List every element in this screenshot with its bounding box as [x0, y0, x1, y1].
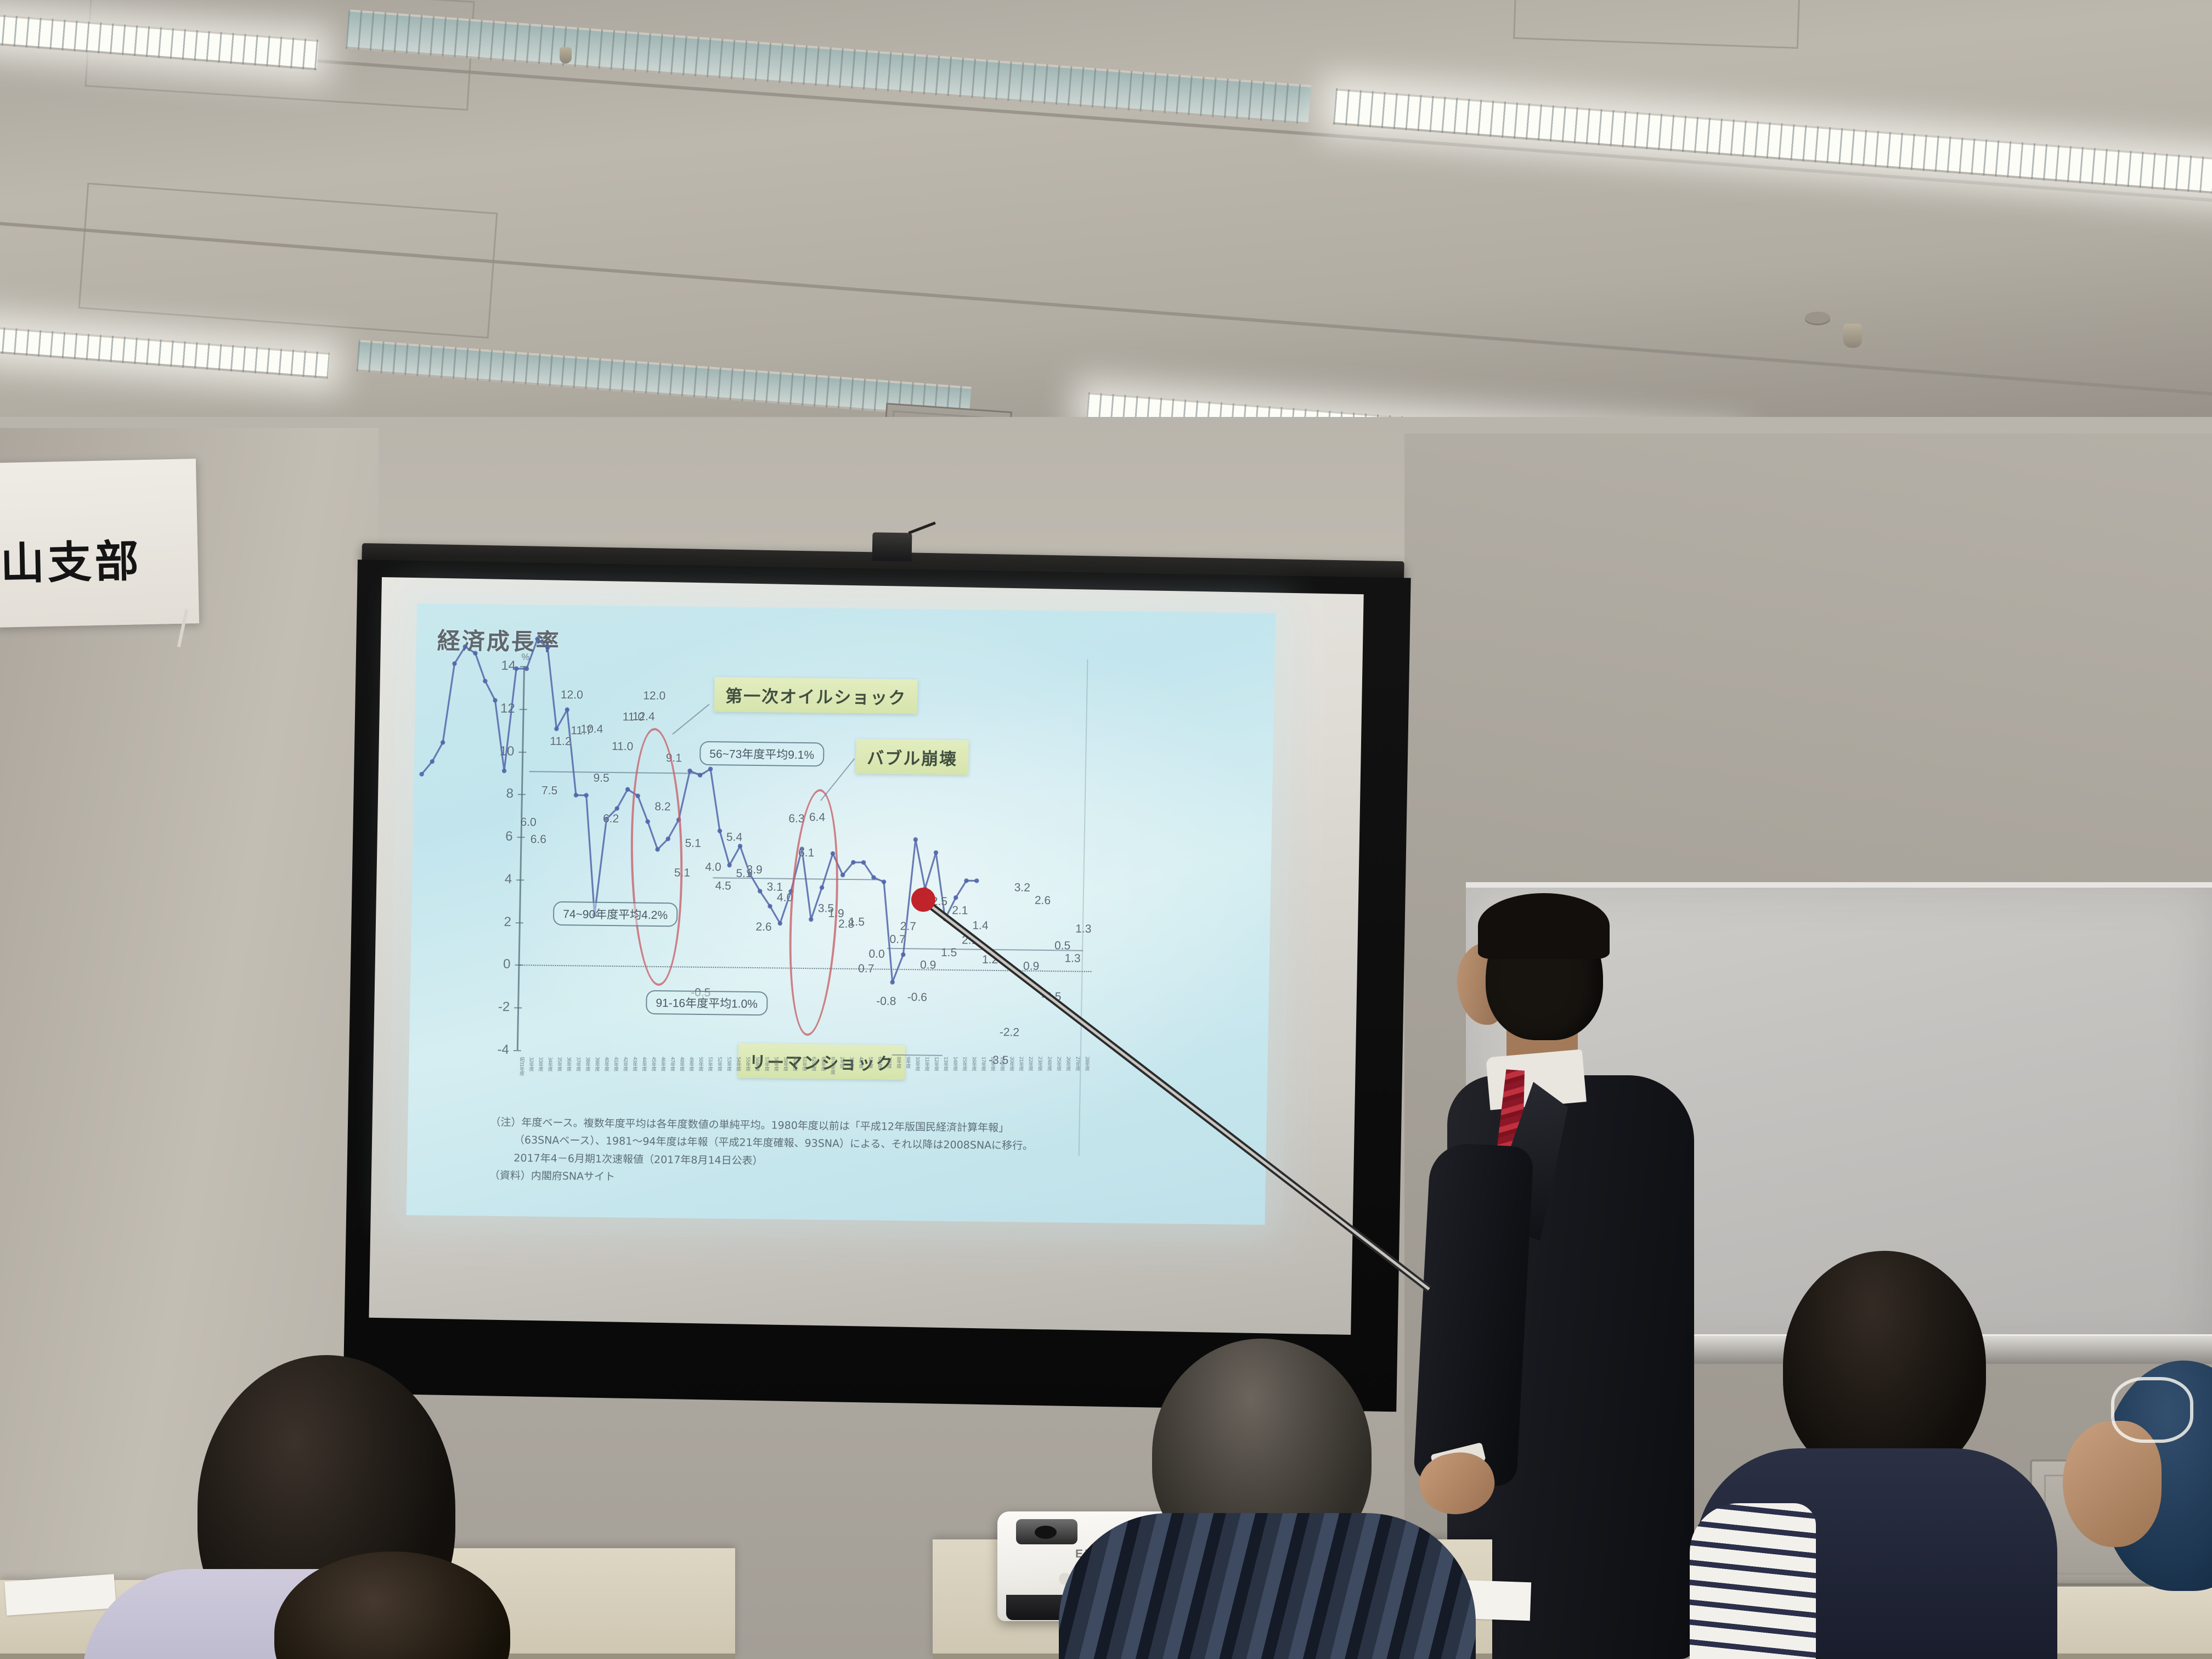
x-axis-tick-label: 7年度	[886, 1057, 891, 1068]
x-axis-tick-label: 昭31年度	[518, 1057, 524, 1075]
data-point-label: -2.2	[1000, 1026, 1020, 1039]
data-point-label: 2.6	[1035, 894, 1051, 907]
x-axis-tick-label: 2年度	[839, 1057, 844, 1068]
presenter-arm	[1413, 1142, 1534, 1487]
data-point-label: 1.3	[1075, 923, 1092, 936]
x-axis-tick-label: 49年度	[688, 1057, 693, 1070]
data-point-label: 12.4	[633, 710, 655, 724]
x-axis-tick-label: 55年度	[744, 1057, 749, 1070]
data-point-label: 2.1	[952, 904, 968, 917]
x-axis-tick-label: 43年度	[631, 1057, 636, 1070]
x-axis-tick-label: 27年度	[1074, 1057, 1079, 1070]
callout-oil-shock: 第一次オイルショック	[714, 677, 918, 714]
x-axis-tick-label: 6年度	[877, 1057, 882, 1068]
x-axis-tick-label: 57年度	[764, 1057, 769, 1070]
x-axis-tick-label: 13年度	[943, 1057, 947, 1070]
x-axis-tick-label: 10年度	[914, 1057, 919, 1070]
x-axis-tick-label: 32年度	[528, 1057, 533, 1070]
data-point-label: 4.5	[715, 880, 731, 893]
data-point-label: -0.5	[1041, 990, 1062, 1003]
x-axis-tick-label: 53年度	[726, 1057, 731, 1070]
x-axis-tick-label: 5年度	[867, 1057, 872, 1068]
x-axis-tick-label: 44年度	[641, 1057, 646, 1070]
x-axis-tick-label: 9年度	[905, 1057, 910, 1068]
data-point-label: 6.2	[603, 812, 619, 826]
x-axis-tick-label: 3年度	[848, 1057, 853, 1068]
pill-avg-74-90: 74~90年度平均4.2%	[553, 901, 678, 927]
presenter-hair-top	[1478, 893, 1610, 959]
data-point-label: 5.4	[726, 831, 743, 844]
data-point-label: 0.5	[1054, 939, 1071, 952]
data-point-label: 11.0	[612, 740, 634, 753]
data-point-label: 12.0	[643, 689, 665, 702]
x-axis-tick-label: 平元年度	[830, 1057, 835, 1074]
x-axis-tick-label: 35年度	[556, 1057, 561, 1070]
data-point-label: 1.4	[972, 919, 989, 933]
x-axis-tick-label: 51年度	[707, 1057, 712, 1070]
x-axis-tick-label: 62年度	[811, 1057, 816, 1070]
pill-avg-56-73: 56~73年度平均9.1%	[699, 741, 825, 767]
ceiling	[0, 0, 2212, 483]
data-point-label: 0.9	[1023, 960, 1040, 973]
slide-footnote: （注）年度ベース。複数年度平均は各年度数値の単純平均。1980年度以前は「平成1…	[489, 1115, 1214, 1194]
x-axis-tick-label: 34年度	[547, 1057, 552, 1070]
x-axis-tick-label: 42年度	[622, 1057, 627, 1070]
callout-bubble-burst: バブル崩壊	[856, 739, 969, 775]
data-point-label: 2.5	[932, 895, 948, 909]
x-axis-tick-label: 38年度	[584, 1057, 589, 1070]
x-axis-tick-label: 60年度	[792, 1057, 797, 1070]
data-point-label: 4.0	[705, 861, 721, 874]
data-point-label: 7.5	[541, 784, 558, 797]
x-axis-tick-label: 18年度	[990, 1057, 995, 1070]
data-point-label: 6.0	[520, 816, 537, 829]
data-point-label: 0.7	[858, 962, 874, 975]
wall-banner-text: 山支部	[0, 524, 193, 592]
x-axis-tick-label: 15年度	[961, 1057, 966, 1070]
x-axis-tick-label: 23年度	[1037, 1057, 1042, 1070]
x-axis-tick-label: 45年度	[651, 1057, 656, 1070]
data-point-label: 10.4	[580, 723, 603, 736]
data-point-label: 1.5	[849, 916, 865, 929]
y-axis-label: -2	[498, 1000, 510, 1015]
smoke-detector-icon	[1805, 312, 1830, 324]
x-axis-tick-label: 46年度	[660, 1057, 665, 1070]
data-point-label: 3.2	[1014, 881, 1031, 894]
data-point-label: 1.3	[1064, 952, 1081, 965]
x-axis-tick-label: 8年度	[895, 1057, 900, 1068]
x-axis-tick-label: 22年度	[1028, 1057, 1032, 1070]
x-axis-tick-label: 39年度	[594, 1057, 599, 1070]
x-axis-tick-label: 24年度	[1046, 1057, 1051, 1070]
x-axis-tick-label: 16年度	[971, 1057, 976, 1070]
sprinkler-icon	[560, 47, 572, 64]
projector-lens-icon	[1016, 1519, 1077, 1544]
x-axis-tick-label: 56年度	[754, 1057, 759, 1070]
audience-shoulder	[1059, 1513, 1476, 1659]
x-axis-tick-label: 37年度	[575, 1057, 580, 1070]
x-axis-tick-label: 58年度	[773, 1057, 778, 1070]
data-point-label: 6.6	[530, 833, 546, 846]
x-axis-tick-label: 17年度	[980, 1057, 985, 1070]
x-axis-tick-label: 11年度	[924, 1057, 929, 1070]
audience-striped-sleeve	[1690, 1503, 1816, 1659]
data-point-label: -0.8	[876, 995, 896, 1008]
x-axis-labels: 昭31年度32年度33年度34年度35年度36年度37年度38年度39年度40年…	[518, 1057, 1089, 1094]
x-axis-tick-label: 47年度	[669, 1057, 674, 1070]
wall-banner: 山支部	[0, 459, 199, 628]
x-axis-tick-label: 41年度	[613, 1057, 618, 1070]
data-point-label: 11.2	[550, 735, 572, 748]
y-axis-label: -4	[497, 1042, 509, 1058]
x-axis-tick-label: 26年度	[1065, 1057, 1070, 1070]
sprinkler-icon	[1843, 324, 1862, 348]
data-point-label: 0.7	[889, 933, 906, 946]
x-axis-tick-label: 4年度	[858, 1057, 863, 1068]
x-axis-tick-label: 61年度	[801, 1057, 806, 1070]
data-point-label: 1.2	[982, 953, 998, 966]
audience-glasses-icon	[2111, 1377, 2193, 1443]
data-point-label: 5.1	[685, 837, 701, 850]
projected-slide: 経済成長率 % -4-202468101214 6.06.67.511.212.…	[407, 603, 1276, 1225]
data-point-label: 12.0	[561, 689, 583, 702]
x-axis-tick-label: 25年度	[1056, 1057, 1060, 1070]
x-axis-tick-label: 28年度	[1084, 1057, 1089, 1070]
data-point-label: 2.6	[755, 921, 772, 934]
y-axis-tick	[514, 1007, 522, 1008]
data-point-label: -0.6	[907, 991, 928, 1004]
lecture-room-scene: 山支部 経済成長率 % -4-202468101214	[0, 0, 2212, 1659]
data-point-label: 0.9	[920, 959, 936, 972]
x-axis-tick-label: 54年度	[735, 1057, 740, 1070]
x-axis-tick-label: 50年度	[697, 1057, 702, 1070]
data-point-label: 2.1	[962, 934, 978, 947]
x-axis-tick-label: 52年度	[716, 1057, 721, 1070]
data-point-label: 2.7	[900, 920, 916, 933]
x-axis-tick-label: 12年度	[933, 1057, 938, 1070]
audience-head	[1783, 1251, 1986, 1481]
x-axis-tick-label: 14年度	[952, 1057, 957, 1070]
data-point-label: 1.5	[941, 946, 957, 960]
data-point-label: 0.0	[868, 948, 885, 961]
data-point-label: 9.5	[593, 772, 610, 785]
x-axis-tick-label: 48年度	[679, 1057, 684, 1070]
pill-avg-91-16: 91-16年度平均1.0%	[646, 990, 768, 1016]
data-point-label: 3.9	[746, 864, 763, 877]
x-axis-tick-label: 33年度	[538, 1057, 543, 1070]
screen-hook-icon	[872, 532, 912, 561]
x-axis-tick-label: 63年度	[820, 1057, 825, 1070]
x-axis-tick-label: 40年度	[603, 1057, 608, 1070]
x-axis-tick-label: 19年度	[999, 1057, 1004, 1070]
x-axis-tick-label: 59年度	[782, 1057, 787, 1070]
x-axis-tick-label: 36年度	[566, 1057, 571, 1070]
x-axis-tick-label: 21年度	[1018, 1057, 1023, 1070]
y-axis-tick	[513, 1050, 521, 1051]
x-axis-tick-label: 20年度	[1008, 1057, 1013, 1070]
